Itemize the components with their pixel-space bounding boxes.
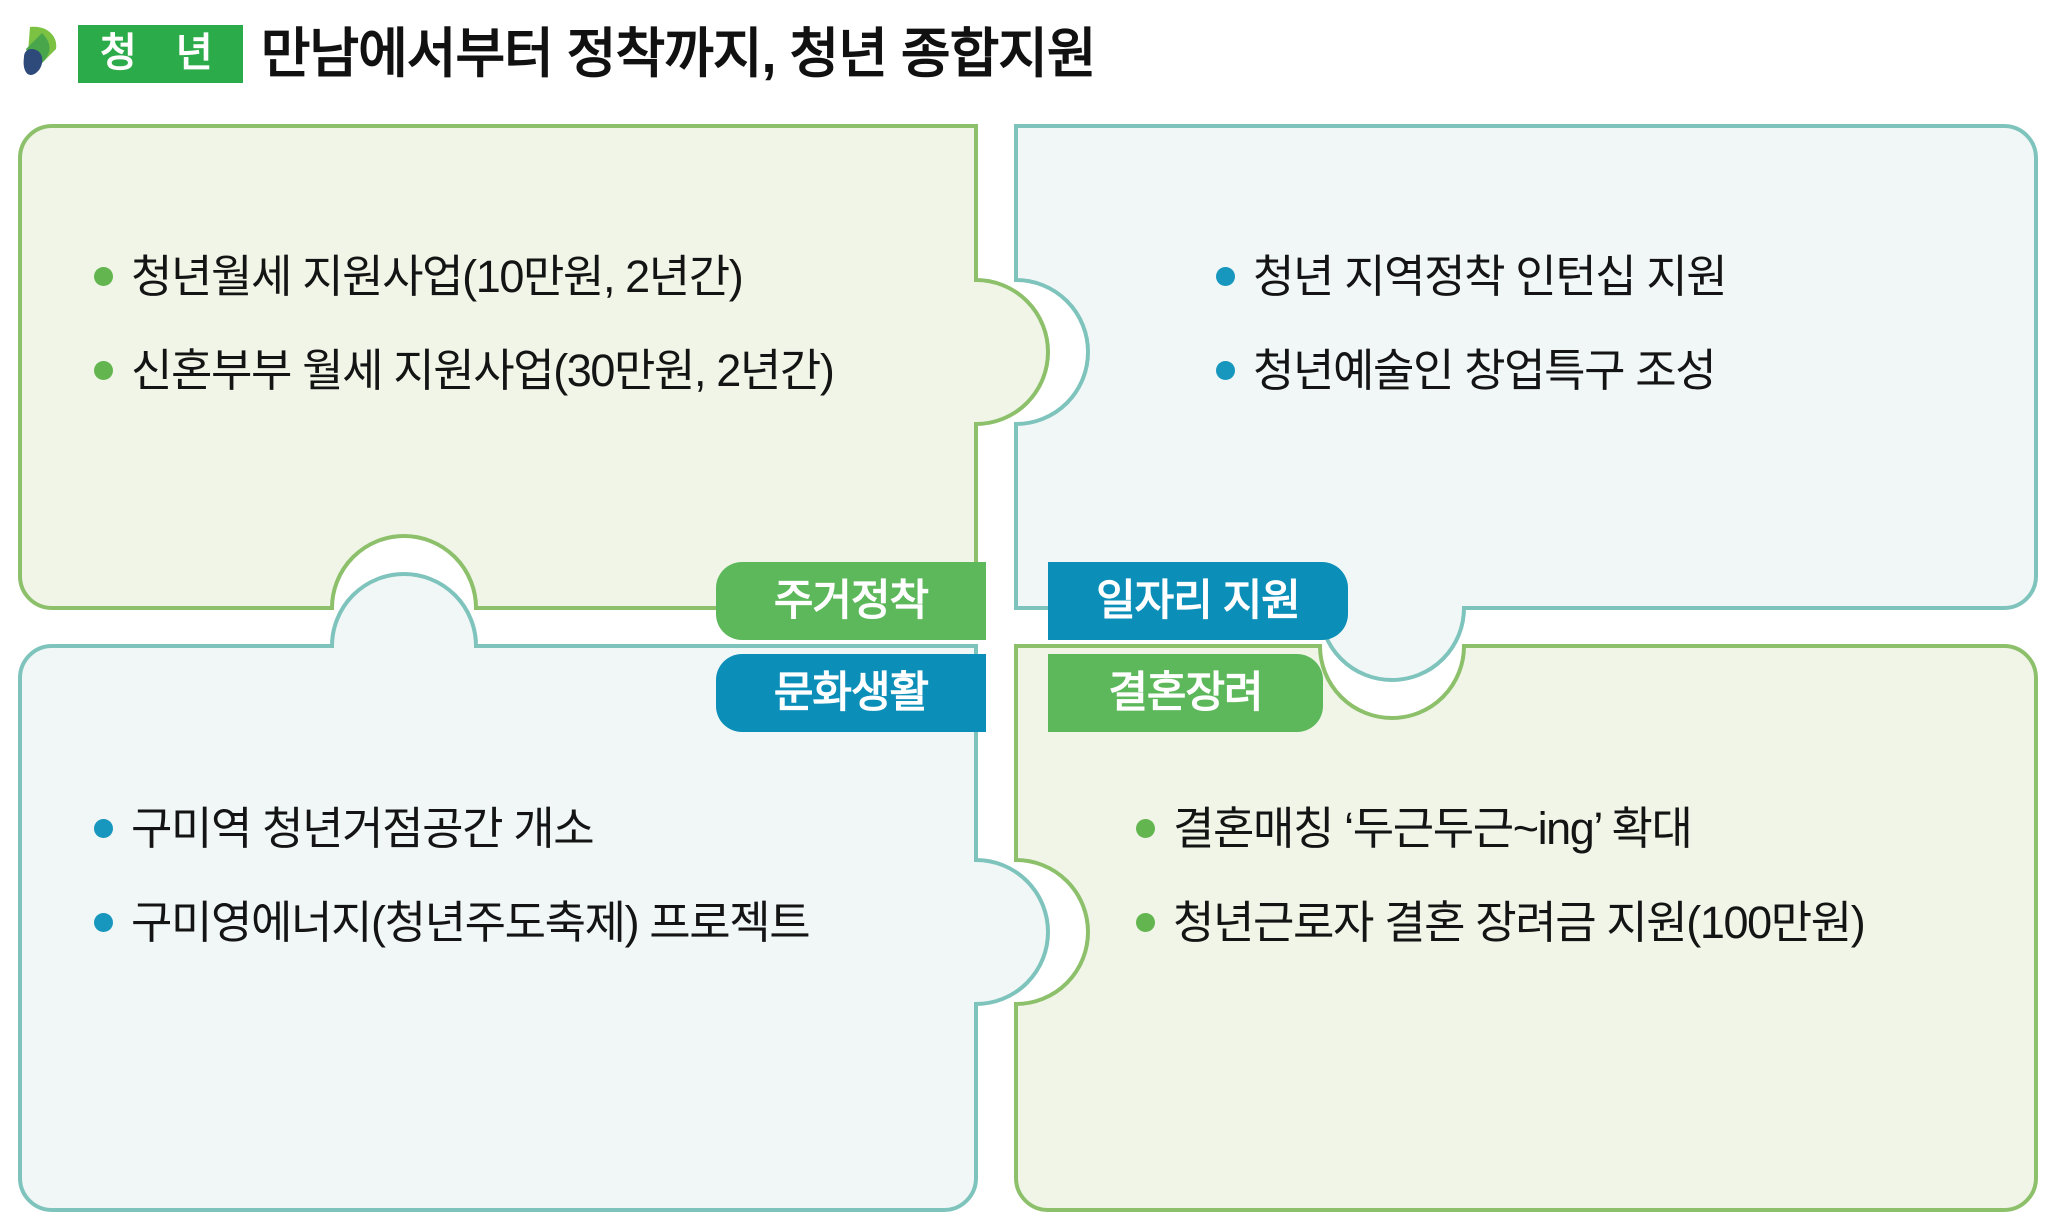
quadrant-top-right-content: 청년 지역정착 인턴십 지원 청년예술인 창업특구 조성 <box>1216 230 2006 417</box>
category-tab-marriage[interactable]: 결혼장려 <box>1048 654 1323 732</box>
category-tab-culture[interactable]: 문화생활 <box>716 654 986 732</box>
list-item: 신혼부부 월세 지원사업(30만원, 2년간) <box>94 346 994 396</box>
list-item: 청년월세 지원사업(10만원, 2년간) <box>94 252 994 302</box>
category-badge: 청 년 <box>78 25 243 83</box>
list-item-label: 청년예술인 창업특구 조성 <box>1253 346 1715 396</box>
quadrant-top-left-content: 청년월세 지원사업(10만원, 2년간) 신혼부부 월세 지원사업(30만원, … <box>94 230 994 417</box>
page-header: 청 년 만남에서부터 정착까지, 청년 종합지원 <box>0 0 2056 108</box>
list-item-label: 신혼부부 월세 지원사업(30만원, 2년간) <box>131 346 833 396</box>
list-item: 청년 지역정착 인턴십 지원 <box>1216 252 2006 302</box>
bullet-dot-icon <box>1136 819 1155 838</box>
category-tab-housing[interactable]: 주거정착 <box>716 562 986 640</box>
category-tab-jobs[interactable]: 일자리 지원 <box>1048 562 1348 640</box>
bullet-dot-icon <box>94 913 113 932</box>
bullet-dot-icon <box>1216 361 1235 380</box>
list-item-label: 구미영에너지(청년주도축제) 프로젝트 <box>131 898 809 948</box>
list-item: 청년근로자 결혼 장려금 지원(100만원) <box>1136 898 2016 948</box>
bullet-dot-icon <box>1216 267 1235 286</box>
list-item: 청년예술인 창업특구 조성 <box>1216 346 2006 396</box>
list-item: 결혼매칭 ‘두근두근~ing’ 확대 <box>1136 804 2016 854</box>
list-item-label: 청년근로자 결혼 장려금 지원(100만원) <box>1173 898 1864 948</box>
chevron-leaf-logo-icon <box>18 23 64 85</box>
list-item: 구미역 청년거점공간 개소 <box>94 804 994 854</box>
list-item: 구미영에너지(청년주도축제) 프로젝트 <box>94 898 994 948</box>
page-title: 만남에서부터 정착까지, 청년 종합지원 <box>261 27 1096 81</box>
bullet-dot-icon <box>94 267 113 286</box>
bullet-dot-icon <box>1136 913 1155 932</box>
list-item-label: 결혼매칭 ‘두근두근~ing’ 확대 <box>1173 804 1691 854</box>
quadrant-bottom-left-content: 구미역 청년거점공간 개소 구미영에너지(청년주도축제) 프로젝트 <box>94 782 994 969</box>
list-item-label: 청년월세 지원사업(10만원, 2년간) <box>131 252 742 302</box>
bullet-dot-icon <box>94 361 113 380</box>
puzzle-board: 청년월세 지원사업(10만원, 2년간) 신혼부부 월세 지원사업(30만원, … <box>16 122 2040 1214</box>
quadrant-bottom-right-content: 결혼매칭 ‘두근두근~ing’ 확대 청년근로자 결혼 장려금 지원(100만원… <box>1136 782 2016 969</box>
bullet-dot-icon <box>94 819 113 838</box>
list-item-label: 구미역 청년거점공간 개소 <box>131 804 593 854</box>
list-item-label: 청년 지역정착 인턴십 지원 <box>1253 252 1726 302</box>
